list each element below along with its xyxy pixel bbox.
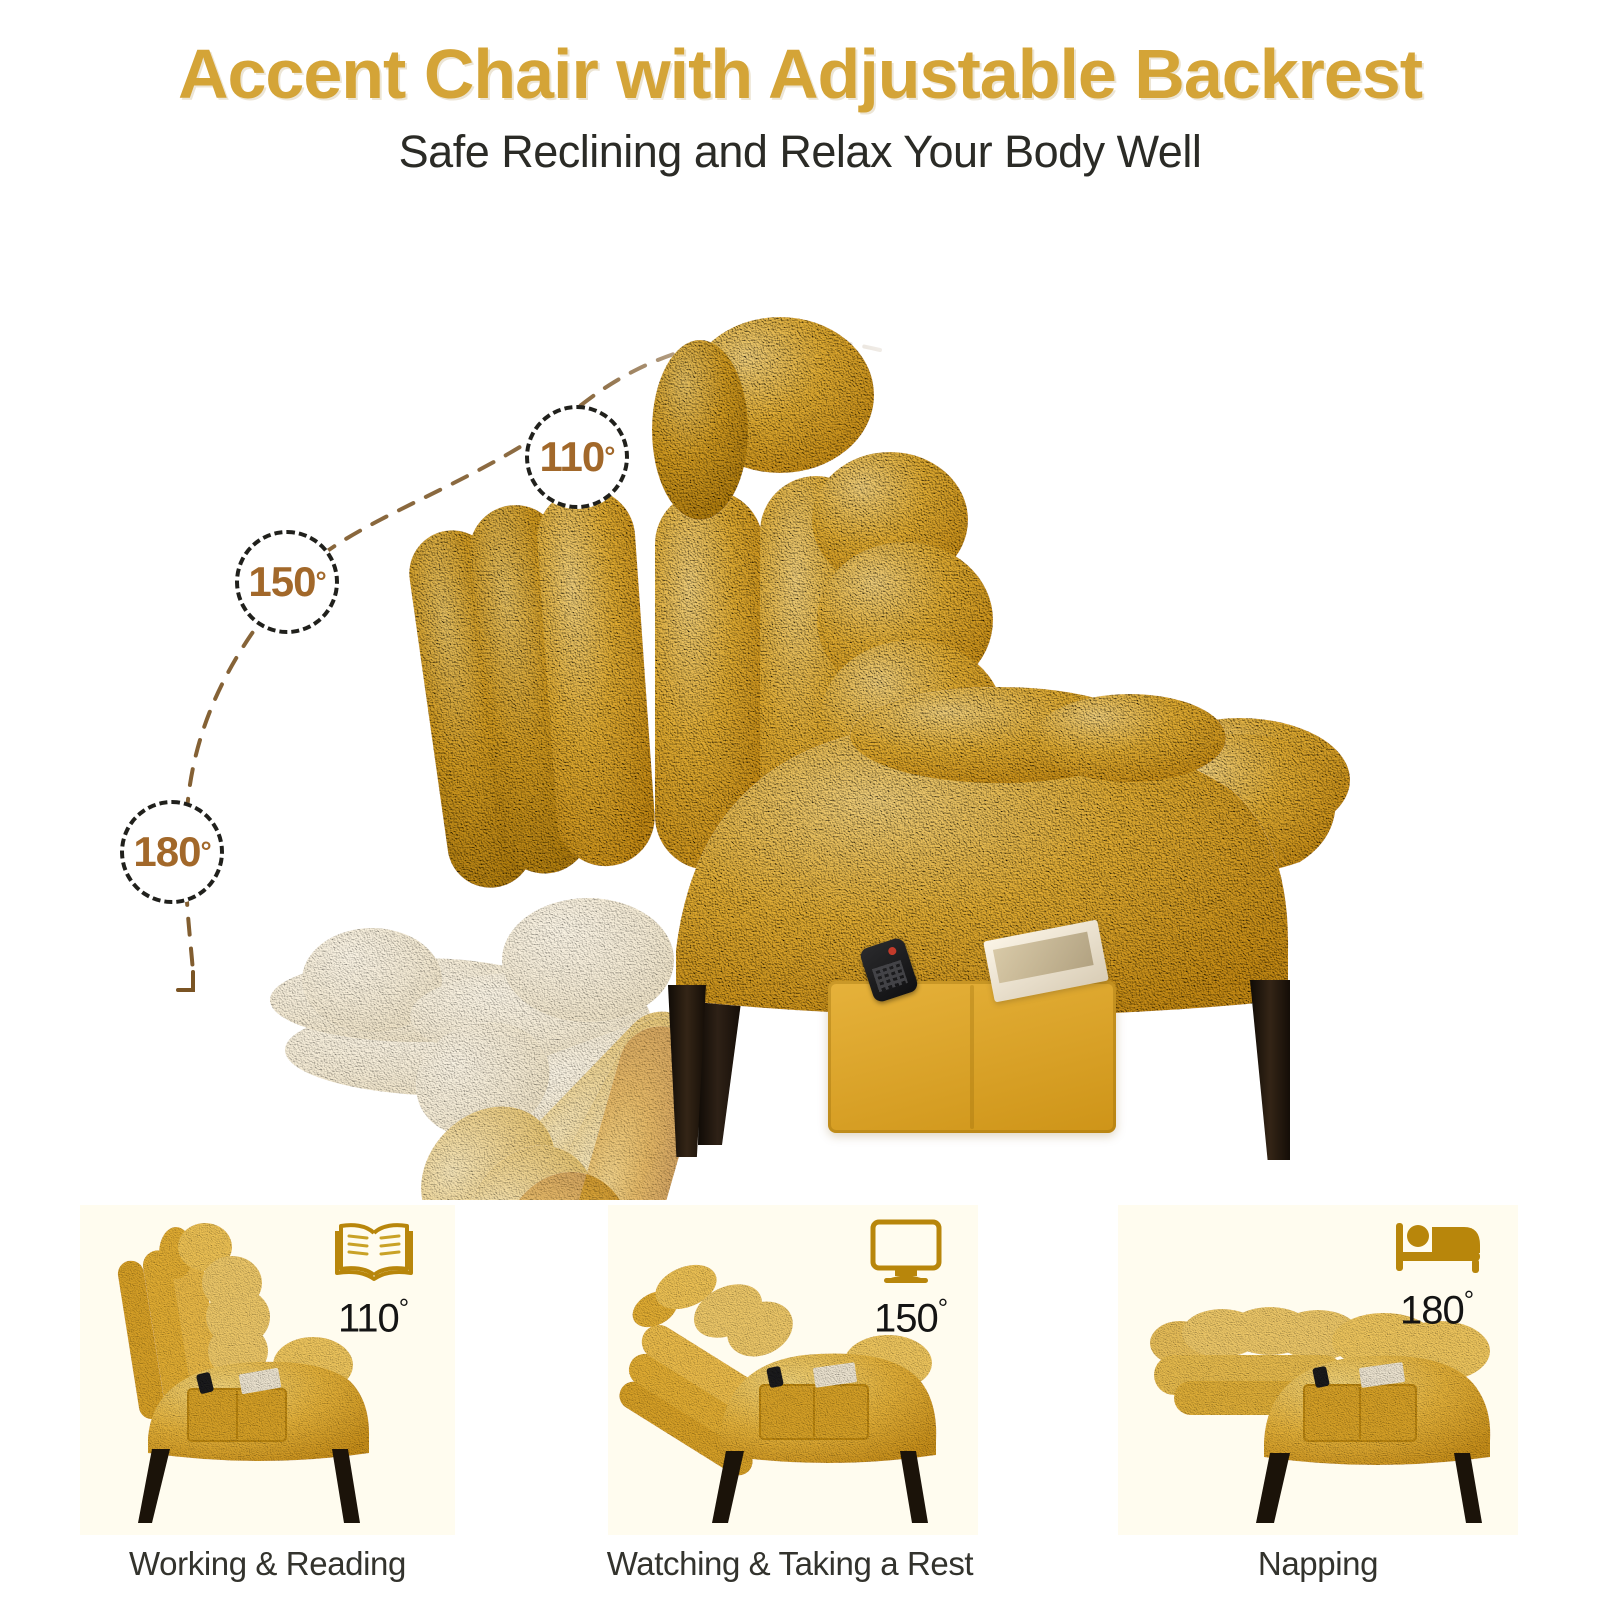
degree-symbol: ° (1464, 1285, 1473, 1315)
degree-symbol: ° (604, 443, 614, 471)
hero-illustration: 110° 150° 180° (0, 190, 1600, 1200)
angle-badge-110: 110° (525, 405, 629, 509)
chair-leg-rear (698, 995, 742, 1145)
angle-badge-180-value: 180 (133, 828, 200, 876)
angle-badge-150-value: 150 (248, 558, 315, 606)
panel1-angle-value: 110 (338, 1296, 399, 1340)
panel1-angle: 110° (338, 1293, 408, 1341)
degree-symbol: ° (315, 568, 325, 596)
degree-symbol: ° (200, 838, 210, 866)
recline-arc (0, 190, 1600, 1200)
angle-badge-150: 150° (235, 530, 339, 634)
panel2-angle-value: 150 (874, 1296, 938, 1340)
panel-watching-resting: 150° (608, 1205, 978, 1535)
panel2-caption: Watching & Taking a Rest (590, 1545, 990, 1583)
degree-symbol: ° (399, 1293, 408, 1323)
bed-icon (1394, 1219, 1484, 1275)
degree-symbol: ° (938, 1293, 947, 1323)
panel2-angle: 150° (874, 1293, 947, 1341)
panel-working-reading: 110° (80, 1205, 455, 1535)
page-title: Accent Chair with Adjustable Backrest (0, 34, 1600, 114)
angle-badge-110-value: 110 (540, 433, 605, 481)
angle-badge-180: 180° (120, 800, 224, 904)
pocket-divider (970, 985, 974, 1129)
page-subtitle: Safe Reclining and Relax Your Body Well (0, 126, 1600, 178)
side-pocket (828, 981, 1116, 1133)
panel-napping: 180° (1118, 1205, 1518, 1535)
panel1-caption: Working & Reading (80, 1545, 455, 1583)
panel3-angle-value: 180 (1400, 1288, 1464, 1332)
panel3-angle: 180° (1400, 1285, 1473, 1333)
open-book-icon (332, 1219, 416, 1283)
panel3-caption: Napping (1118, 1545, 1518, 1583)
monitor-icon (868, 1217, 944, 1285)
